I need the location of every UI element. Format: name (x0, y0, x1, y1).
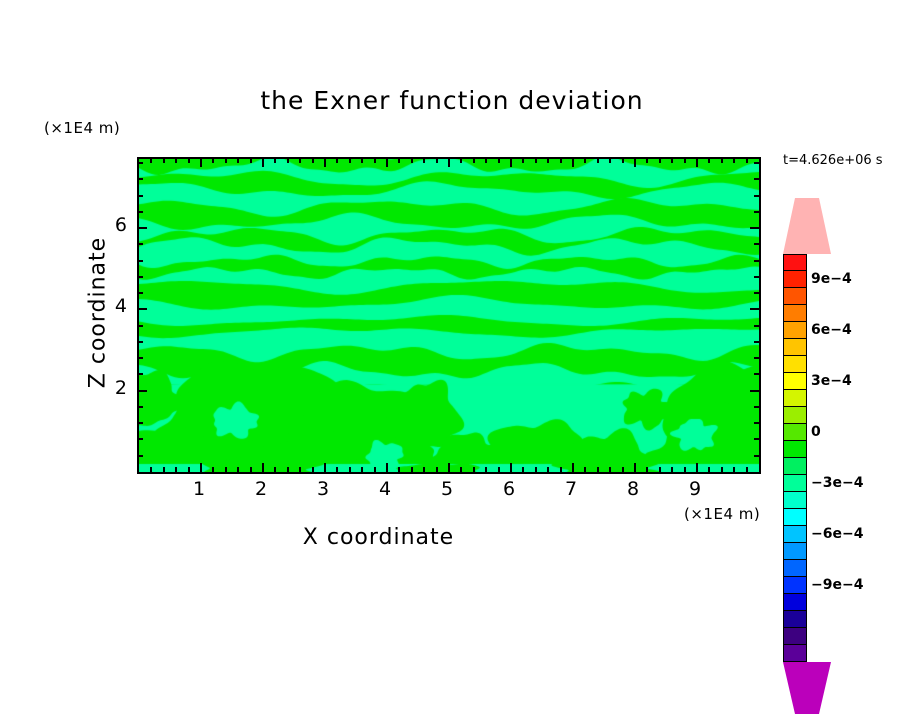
x-minor-tick-top (721, 158, 723, 163)
x-minor-tick (163, 467, 165, 472)
x-minor-tick (473, 467, 475, 472)
x-minor-tick (721, 467, 723, 472)
x-tick-label-3: 3 (303, 478, 343, 500)
x-minor-tick (708, 467, 710, 472)
x-major-tick (324, 463, 326, 472)
colorbar-label-2: 3e−4 (811, 373, 852, 389)
x-minor-tick-top (522, 158, 524, 163)
x-major-tick-top (572, 158, 574, 167)
x-tick-label-4: 4 (365, 478, 405, 500)
x-minor-tick-top (274, 158, 276, 163)
x-minor-tick (312, 467, 314, 472)
colorbar-band-11 (783, 441, 807, 458)
x-minor-tick (411, 467, 413, 472)
x-minor-tick (622, 467, 624, 472)
x-tick-label-2: 2 (241, 478, 281, 500)
x-minor-tick-top (659, 158, 661, 163)
colorbar-band-20 (783, 594, 807, 611)
x-major-tick (510, 463, 512, 472)
colorbar-band-19 (783, 577, 807, 594)
colorbar-over-arrow-icon (783, 198, 831, 254)
colorbar-band-1 (783, 271, 807, 288)
y-minor-tick (138, 178, 143, 180)
y-minor-tick-right (754, 260, 759, 262)
x-minor-tick-top (287, 158, 289, 163)
x-minor-tick (535, 467, 537, 472)
colorbar-band-10 (783, 424, 807, 441)
colorbar (775, 198, 821, 518)
x-minor-tick-top (349, 158, 351, 163)
y-tick-label-2: 2 (97, 377, 127, 399)
time-stamp-annotation: t=4.626e+06 s (783, 153, 883, 168)
x-minor-tick-top (423, 158, 425, 163)
y-major-tick (138, 390, 147, 392)
colorbar-band-15 (783, 509, 807, 526)
colorbar-band-5 (783, 339, 807, 356)
x-minor-tick (274, 467, 276, 472)
y-tick-label-4: 4 (97, 295, 127, 317)
colorbar-band-17 (783, 543, 807, 560)
x-minor-tick-top (646, 158, 648, 163)
y-minor-tick-right (754, 406, 759, 408)
colorbar-label-4: −3e−4 (811, 475, 863, 491)
x-minor-tick-top (436, 158, 438, 163)
y-minor-tick (138, 276, 143, 278)
y-minor-tick (138, 438, 143, 440)
x-major-tick (696, 463, 698, 472)
x-minor-tick-top (746, 158, 748, 163)
y-minor-tick (138, 195, 143, 197)
x-major-tick (262, 463, 264, 472)
y-minor-tick-right (754, 211, 759, 213)
y-major-tick-right (750, 308, 759, 310)
y-minor-tick-right (754, 292, 759, 294)
y-minor-tick (138, 325, 143, 327)
y-major-tick (138, 227, 147, 229)
y-minor-tick (138, 422, 143, 424)
x-minor-tick-top (560, 158, 562, 163)
y-minor-tick-right (754, 373, 759, 375)
x-minor-tick (547, 467, 549, 472)
x-minor-tick (374, 467, 376, 472)
x-tick-label-9: 9 (675, 478, 715, 500)
x-minor-tick (287, 467, 289, 472)
x-tick-label-5: 5 (427, 478, 467, 500)
y-minor-tick-right (754, 276, 759, 278)
x-major-tick (200, 463, 202, 472)
colorbar-band-8 (783, 390, 807, 407)
x-minor-tick (299, 467, 301, 472)
x-minor-tick (746, 467, 748, 472)
x-major-tick (634, 463, 636, 472)
y-minor-tick (138, 357, 143, 359)
x-minor-tick-top (622, 158, 624, 163)
x-minor-tick-top (547, 158, 549, 163)
x-major-tick-top (634, 158, 636, 167)
y-minor-tick (138, 243, 143, 245)
x-major-tick-top (510, 158, 512, 167)
y-axis-unit-label: (×1E4 m) (44, 119, 120, 137)
y-minor-tick-right (754, 178, 759, 180)
x-minor-tick-top (498, 158, 500, 163)
x-axis-unit-label: (×1E4 m) (684, 505, 760, 523)
x-major-tick-top (448, 158, 450, 167)
x-minor-tick (150, 467, 152, 472)
x-minor-tick-top (250, 158, 252, 163)
y-minor-tick-right (754, 455, 759, 457)
x-minor-tick (225, 467, 227, 472)
x-major-tick-top (386, 158, 388, 167)
y-minor-tick-right (754, 438, 759, 440)
x-tick-label-7: 7 (551, 478, 591, 500)
x-minor-tick-top (485, 158, 487, 163)
y-minor-tick-right (754, 162, 759, 164)
colorbar-label-1: 6e−4 (811, 322, 852, 338)
x-minor-tick-top (188, 158, 190, 163)
x-minor-tick-top (163, 158, 165, 163)
colorbar-band-21 (783, 611, 807, 628)
x-minor-tick-top (411, 158, 413, 163)
colorbar-band-4 (783, 322, 807, 339)
x-minor-tick-top (733, 158, 735, 163)
x-minor-tick-top (460, 158, 462, 163)
y-minor-tick-right (754, 341, 759, 343)
x-minor-tick (498, 467, 500, 472)
y-minor-tick (138, 292, 143, 294)
x-minor-tick (361, 467, 363, 472)
x-minor-tick-top (597, 158, 599, 163)
y-minor-tick-right (754, 195, 759, 197)
x-minor-tick-top (336, 158, 338, 163)
x-minor-tick (584, 467, 586, 472)
x-major-tick (572, 463, 574, 472)
x-major-tick (448, 463, 450, 472)
colorbar-band-16 (783, 526, 807, 543)
y-minor-tick (138, 373, 143, 375)
x-minor-tick-top (671, 158, 673, 163)
colorbar-band-12 (783, 458, 807, 475)
y-minor-tick (138, 211, 143, 213)
x-minor-tick-top (374, 158, 376, 163)
x-major-tick-top (200, 158, 202, 167)
colorbar-band-7 (783, 373, 807, 390)
x-tick-label-8: 8 (613, 478, 653, 500)
x-minor-tick-top (398, 158, 400, 163)
y-major-tick-right (750, 390, 759, 392)
y-minor-tick-right (754, 357, 759, 359)
y-minor-tick (138, 406, 143, 408)
x-minor-tick (609, 467, 611, 472)
x-minor-tick-top (609, 158, 611, 163)
x-axis-title: X coordinate (0, 525, 757, 550)
x-tick-label-1: 1 (179, 478, 219, 500)
x-minor-tick (460, 467, 462, 472)
colorbar-label-0: 9e−4 (811, 271, 852, 287)
x-minor-tick (175, 467, 177, 472)
y-major-tick-right (750, 227, 759, 229)
colorbar-band-3 (783, 305, 807, 322)
x-minor-tick (560, 467, 562, 472)
colorbar-band-18 (783, 560, 807, 577)
x-minor-tick-top (684, 158, 686, 163)
y-minor-tick-right (754, 243, 759, 245)
x-minor-tick (212, 467, 214, 472)
x-minor-tick (733, 467, 735, 472)
colorbar-label-3: 0 (811, 424, 821, 440)
x-minor-tick (646, 467, 648, 472)
x-major-tick (386, 463, 388, 472)
colorbar-band-22 (783, 628, 807, 645)
x-minor-tick (659, 467, 661, 472)
x-minor-tick (237, 467, 239, 472)
page-title: the Exner function deviation (0, 86, 904, 115)
x-minor-tick (671, 467, 673, 472)
y-minor-tick (138, 162, 143, 164)
colorbar-under-arrow-icon (783, 662, 831, 714)
y-minor-tick-right (754, 325, 759, 327)
x-minor-tick (398, 467, 400, 472)
contour-field-canvas (139, 159, 759, 472)
x-minor-tick (423, 467, 425, 472)
x-minor-tick (336, 467, 338, 472)
x-minor-tick (485, 467, 487, 472)
colorbar-band-2 (783, 288, 807, 305)
y-minor-tick (138, 341, 143, 343)
x-minor-tick-top (237, 158, 239, 163)
x-major-tick-top (262, 158, 264, 167)
colorbar-bands (783, 254, 807, 662)
x-tick-label-6: 6 (489, 478, 529, 500)
colorbar-label-5: −6e−4 (811, 526, 863, 542)
y-major-tick (138, 308, 147, 310)
x-minor-tick (188, 467, 190, 472)
x-major-tick-top (324, 158, 326, 167)
x-minor-tick-top (212, 158, 214, 163)
colorbar-band-13 (783, 475, 807, 492)
x-minor-tick (522, 467, 524, 472)
x-minor-tick (684, 467, 686, 472)
colorbar-band-6 (783, 356, 807, 373)
x-minor-tick-top (584, 158, 586, 163)
colorbar-label-6: −9e−4 (811, 577, 863, 593)
contour-plot-area (137, 157, 761, 474)
y-tick-label-6: 6 (97, 214, 127, 236)
colorbar-band-9 (783, 407, 807, 424)
x-minor-tick-top (473, 158, 475, 163)
x-major-tick-top (696, 158, 698, 167)
y-minor-tick-right (754, 422, 759, 424)
x-minor-tick (349, 467, 351, 472)
x-minor-tick-top (312, 158, 314, 163)
x-minor-tick (597, 467, 599, 472)
x-minor-tick (250, 467, 252, 472)
colorbar-band-0 (783, 254, 807, 271)
x-minor-tick-top (535, 158, 537, 163)
x-minor-tick-top (175, 158, 177, 163)
x-minor-tick-top (299, 158, 301, 163)
x-minor-tick-top (361, 158, 363, 163)
y-minor-tick (138, 455, 143, 457)
x-minor-tick-top (708, 158, 710, 163)
y-minor-tick (138, 260, 143, 262)
x-minor-tick-top (225, 158, 227, 163)
colorbar-band-14 (783, 492, 807, 509)
x-minor-tick-top (150, 158, 152, 163)
x-minor-tick (436, 467, 438, 472)
